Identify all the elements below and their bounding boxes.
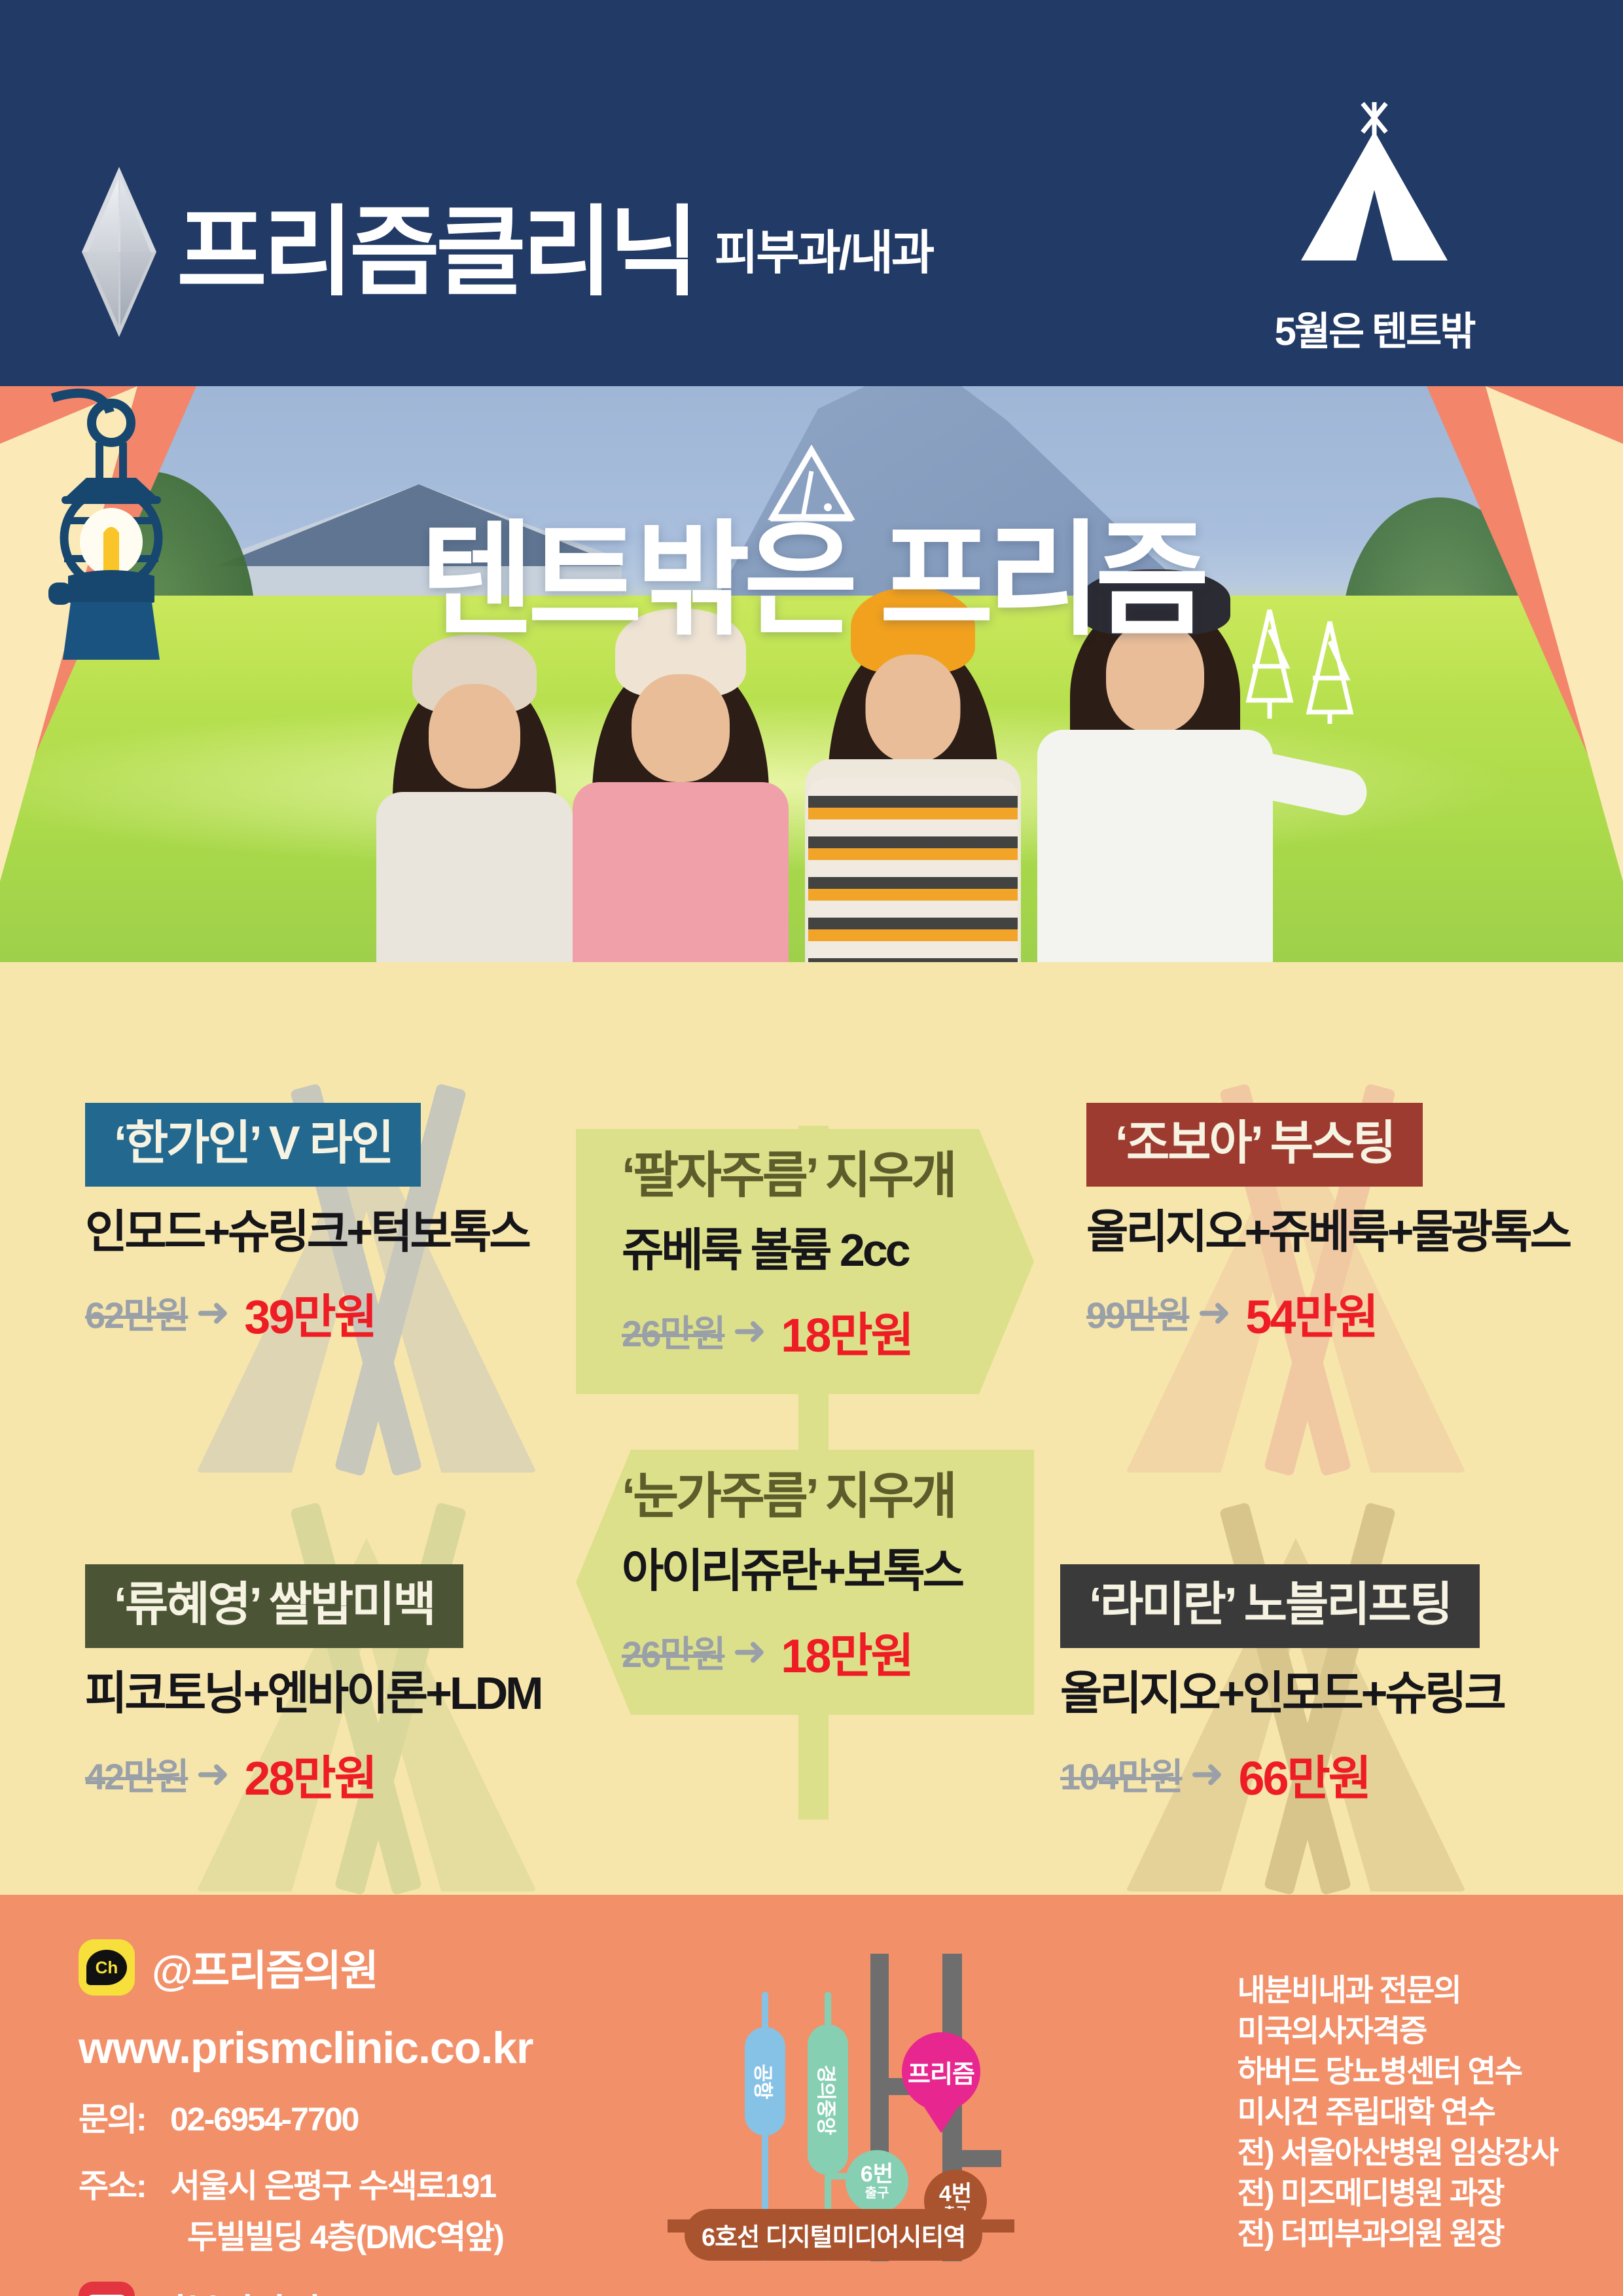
doctor-credentials: 내분비내과 전문의 미국의사자격증 하버드 당뇨병센터 연수 미시건 주립대학 … <box>1238 1970 1558 2254</box>
promo-card-6[interactable]: ‘라미란’ 노블리프팅 올리지오+인모드+슈링크 104만원 ➜ 66만원 <box>1060 1564 1504 1808</box>
location-map: 공항 경의중앙 6번 출구 4번 출구 6호선 디지털미디어시티역 프리즘 <box>668 1954 1073 2261</box>
address-label: 주소: <box>79 2160 170 2207</box>
address-line-1: 주소:서울시 은평구 수색로191 <box>79 2160 668 2207</box>
promo-card-2-price-old: 26만원 <box>622 1304 724 1357</box>
promo-card-4[interactable]: ‘류혜영’ 쌀밥미백 피코토닝+엔바이론+LDM 42만원 ➜ 28만원 <box>85 1564 541 1808</box>
phone-number[interactable]: 02-6954-7700 <box>170 2101 358 2138</box>
youtube-channel: 피부인사이드(SkINside) <box>152 2282 526 2296</box>
map-rail-gyeongui-label: 경의중앙 <box>808 2024 848 2175</box>
promo-card-2-price-new: 18만원 <box>781 1297 912 1365</box>
clinic-name: 프리즘클리닉 <box>177 203 695 301</box>
kakao-handle: @프리즘의원 <box>152 1937 378 1998</box>
promo-card-6-treatment: 올리지오+인모드+슈링크 <box>1060 1670 1504 1716</box>
credential-item: 미국의사자격증 <box>1238 2011 1558 2051</box>
promo-card-4-prices: 42만원 ➜ 28만원 <box>85 1740 541 1808</box>
credential-item: 전) 서울아산병원 임상강사 <box>1238 2132 1558 2173</box>
promo-card-4-treatment: 피코토닝+엔바이론+LDM <box>85 1670 541 1716</box>
map-exit-6: 6번 출구 <box>846 2150 908 2213</box>
promo-card-5-prices: 26만원 ➜ 18만원 <box>622 1617 988 1686</box>
promo-card-6-price-new: 66만원 <box>1238 1740 1370 1808</box>
promo-card-4-title: ‘류혜영’ 쌀밥미백 <box>85 1564 463 1648</box>
pine-tree-icon <box>1230 602 1374 726</box>
price-arrow-icon: ➜ <box>732 1632 766 1672</box>
promo-card-5[interactable]: ‘눈가주름’ 지우개 아이리쥬란+보톡스 26만원 ➜ 18만원 <box>576 1450 1034 1715</box>
credential-item: 내분비내과 전문의 <box>1238 1970 1558 2011</box>
clinic-departments: 피부과/내과 <box>715 214 933 291</box>
youtube-icon[interactable] <box>79 2282 135 2296</box>
promo-card-1-price-old: 62만원 <box>85 1286 188 1339</box>
phone-line: 문의:02-6954-7700 <box>79 2093 668 2140</box>
credential-item: 전) 미즈메디병원 과장 <box>1238 2173 1558 2214</box>
teepee-tent-icon <box>1276 92 1472 288</box>
promo-card-2[interactable]: ‘팔자주름’ 지우개 쥬베룩 볼륨 2cc 26만원 ➜ 18만원 <box>576 1129 1034 1394</box>
youtube-row[interactable]: 피부인사이드(SkINside) <box>79 2282 668 2296</box>
promo-card-2-prices: 26만원 ➜ 18만원 <box>622 1297 988 1365</box>
price-arrow-icon: ➜ <box>1190 1754 1224 1795</box>
prism-diamond-icon <box>82 167 157 337</box>
promo-card-3-price-new: 54만원 <box>1245 1278 1377 1347</box>
promo-card-5-treatment: 아이리쥬란+보톡스 <box>622 1548 988 1594</box>
promo-card-1-prices: 62만원 ➜ 39만원 <box>85 1278 529 1347</box>
promo-card-6-price-old: 104만원 <box>1060 1748 1182 1801</box>
promo-card-1-price-new: 39만원 <box>244 1278 376 1347</box>
map-location-pin: 프리즘 <box>902 2032 980 2111</box>
promo-card-3-title: ‘조보아’ 부스팅 <box>1086 1103 1423 1187</box>
promo-card-1-treatment: 인모드+슈링크+턱보톡스 <box>85 1209 529 1255</box>
promo-card-5-price-old: 26만원 <box>622 1625 724 1678</box>
promo-card-5-price-new: 18만원 <box>781 1617 912 1686</box>
promotions-section: ‘한가인’ V 라인 인모드+슈링크+턱보톡스 62만원 ➜ 39만원 ‘팔자주… <box>0 962 1623 1895</box>
map-rail-airport-label: 공항 <box>745 2027 785 2136</box>
price-arrow-icon: ➜ <box>732 1311 766 1352</box>
price-arrow-icon: ➜ <box>1197 1293 1231 1333</box>
tent-caption: 5월은 텐트밖 <box>1250 300 1499 357</box>
promo-card-3-prices: 99만원 ➜ 54만원 <box>1086 1278 1569 1347</box>
price-arrow-icon: ➜ <box>196 1293 230 1333</box>
tent-badge: 5월은 텐트밖 <box>1250 92 1499 357</box>
hero-banner: 텐트밖은 프리즘 <box>0 386 1623 962</box>
address-line-2: 두빌빌딩 4층(DMC역앞) <box>79 2211 668 2258</box>
phone-label: 문의: <box>79 2093 170 2140</box>
promo-card-3-treatment: 올리지오+쥬베룩+물광톡스 <box>1086 1209 1569 1255</box>
credential-item: 하버드 당뇨병센터 연수 <box>1238 2051 1558 2092</box>
promo-card-1-title: ‘한가인’ V 라인 <box>85 1103 421 1187</box>
map-station-label: 6호선 디지털미디어시티역 <box>685 2209 982 2261</box>
promo-card-4-price-old: 42만원 <box>85 1748 188 1801</box>
promo-card-6-prices: 104만원 ➜ 66만원 <box>1060 1740 1504 1808</box>
kakao-channel-icon[interactable]: Ch <box>79 1939 135 1996</box>
person-3 <box>798 563 1027 962</box>
footer-contact-block: Ch @프리즘의원 www.prismclinic.co.kr 문의:02-69… <box>79 1937 668 2296</box>
price-arrow-icon: ➜ <box>196 1754 230 1795</box>
hero-people-photo <box>366 569 1283 962</box>
kakao-badge-label: Ch <box>86 1950 127 1985</box>
poster-root: 프리즘클리닉 피부과/내과 5월은 텐트밖 <box>0 0 1623 2296</box>
person-1 <box>366 596 582 962</box>
person-2 <box>563 576 798 962</box>
clinic-logo-block: 프리즘클리닉 피부과/내과 <box>82 167 933 337</box>
website-url[interactable]: www.prismclinic.co.kr <box>79 2022 668 2073</box>
camping-lantern-icon <box>26 386 196 671</box>
promo-card-3[interactable]: ‘조보아’ 부스팅 올리지오+쥬베룩+물광톡스 99만원 ➜ 54만원 <box>1086 1103 1569 1347</box>
credential-item: 전) 더피부과의원 원장 <box>1238 2214 1558 2254</box>
map-road-cross-2 <box>942 2150 1001 2167</box>
promo-card-3-price-old: 99만원 <box>1086 1286 1189 1339</box>
poster-header: 프리즘클리닉 피부과/내과 5월은 텐트밖 <box>0 0 1623 386</box>
promo-card-5-title: ‘눈가주름’ 지우개 <box>622 1472 988 1522</box>
promo-card-2-treatment: 쥬베룩 볼륨 2cc <box>622 1227 988 1273</box>
credential-item: 미시건 주립대학 연수 <box>1238 2092 1558 2132</box>
promo-card-1[interactable]: ‘한가인’ V 라인 인모드+슈링크+턱보톡스 62만원 ➜ 39만원 <box>85 1103 529 1347</box>
promo-card-6-title: ‘라미란’ 노블리프팅 <box>1060 1564 1480 1648</box>
kakao-row[interactable]: Ch @프리즘의원 <box>79 1937 668 1998</box>
promo-card-4-price-new: 28만원 <box>244 1740 376 1808</box>
address-value-1: 서울시 은평구 수색로191 <box>170 2168 495 2204</box>
promo-card-2-title: ‘팔자주름’ 지우개 <box>622 1151 988 1201</box>
